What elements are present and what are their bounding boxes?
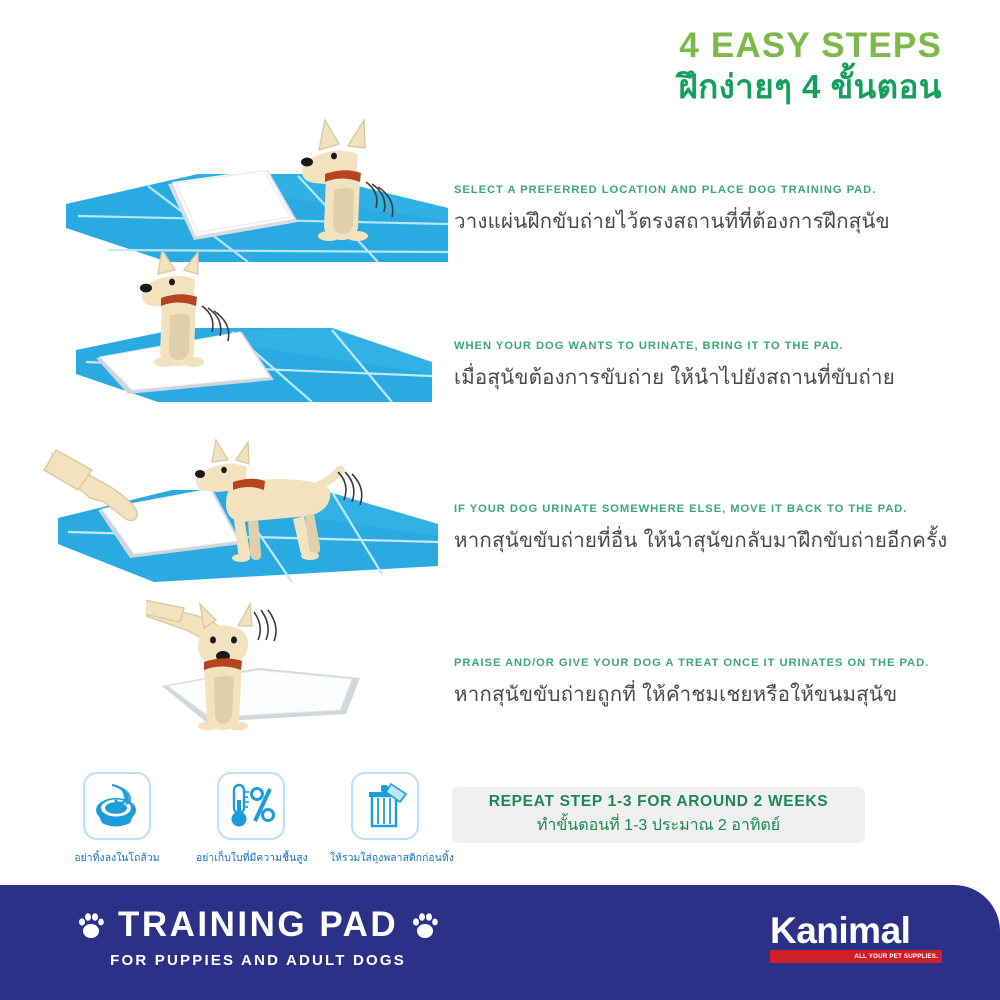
page-title-thai: ฝึกง่ายๆ 4 ขั้นตอน bbox=[678, 67, 942, 107]
product-brand-block: TRAINING PAD FOR PUPPIES AND ADULT DOGS bbox=[78, 907, 438, 969]
step-1-english: SELECT A PREFERRED LOCATION AND PLACE DO… bbox=[454, 184, 974, 196]
warning-item-humidity: อย่าเก็บใบที่มีความชื้นสูง bbox=[196, 772, 306, 866]
step-1-text: SELECT A PREFERRED LOCATION AND PLACE DO… bbox=[454, 184, 974, 238]
toilet-icon bbox=[83, 772, 151, 840]
step-4-thai: หากสุนัขขับถ่ายถูกที่ ให้คำชมเชยหรือให้ข… bbox=[454, 678, 974, 711]
thermometer-humidity-icon bbox=[217, 772, 285, 840]
product-name: TRAINING PAD bbox=[118, 907, 398, 942]
step-3-illustration bbox=[42, 432, 442, 589]
wagging-lines-4 bbox=[254, 610, 276, 641]
step-2-illustration bbox=[62, 252, 432, 407]
kanimal-wordmark: Kanimal bbox=[770, 913, 942, 948]
warning-label-humidity: อย่าเก็บใบที่มีความชื้นสูง bbox=[196, 849, 306, 866]
step-4-text: PRAISE AND/OR GIVE YOUR DOG A TREAT ONCE… bbox=[454, 657, 974, 711]
repeat-english: REPEAT STEP 1-3 FOR AROUND 2 WEEKS bbox=[489, 793, 829, 811]
warning-label-toilet: อย่าทิ้งลงในโถส้วม bbox=[62, 849, 172, 866]
infographic-page: 4 EASY STEPS ฝึกง่ายๆ 4 ขั้นตอน bbox=[0, 0, 1000, 1000]
step-1-thai: วางแผ่นฝึกขับถ่ายไว้ตรงสถานที่ที่ต้องการ… bbox=[454, 205, 974, 238]
warning-label-trash: ให้รวมใส่ถุงพลาสติกก่อนทิ้ง bbox=[330, 849, 440, 866]
page-title-english: 4 EASY STEPS bbox=[678, 26, 942, 65]
step-3-text: IF YOUR DOG URINATE SOMEWHERE ELSE, MOVE… bbox=[454, 503, 974, 557]
product-tagline: FOR PUPPIES AND ADULT DOGS bbox=[78, 952, 438, 969]
pointing-hand-3 bbox=[44, 450, 137, 521]
step-4-english: PRAISE AND/OR GIVE YOUR DOG A TREAT ONCE… bbox=[454, 657, 974, 669]
training-pad-4 bbox=[162, 668, 360, 722]
step-2-text: WHEN YOUR DOG WANTS TO URINATE, BRING IT… bbox=[454, 340, 974, 394]
kanimal-tagline: ALL YOUR PET SUPPLIES. bbox=[854, 953, 938, 960]
step-1-illustration bbox=[48, 112, 448, 267]
warning-item-trash: ให้รวมใส่ถุงพลาสติกก่อนทิ้ง bbox=[330, 772, 440, 866]
step-3-english: IF YOUR DOG URINATE SOMEWHERE ELSE, MOVE… bbox=[454, 503, 974, 515]
warning-item-toilet: อย่าทิ้งลงในโถส้วม bbox=[62, 772, 172, 866]
paw-print-left-icon bbox=[78, 910, 104, 940]
kanimal-red-bar: ALL YOUR PET SUPPLIES. bbox=[770, 950, 942, 963]
step-2-english: WHEN YOUR DOG WANTS TO URINATE, BRING IT… bbox=[454, 340, 974, 352]
warning-icon-group: อย่าทิ้งลงในโถส้วม bbox=[62, 772, 440, 866]
repeat-instruction-box: REPEAT STEP 1-3 FOR AROUND 2 WEEKS ทำขั้… bbox=[452, 787, 865, 843]
bottom-banner: TRAINING PAD FOR PUPPIES AND ADULT DOGS … bbox=[0, 885, 1000, 1000]
trash-bin-icon bbox=[351, 772, 419, 840]
paw-print-right-icon bbox=[412, 910, 438, 940]
kanimal-logo: Kanimal ALL YOUR PET SUPPLIES. bbox=[770, 913, 942, 963]
step-4-illustration bbox=[146, 586, 446, 741]
repeat-thai: ทำขั้นตอนที่ 1-3 ประมาณ 2 อาทิตย์ bbox=[537, 813, 780, 838]
page-header: 4 EASY STEPS ฝึกง่ายๆ 4 ขั้นตอน bbox=[678, 26, 942, 107]
step-2-thai: เมื่อสุนัขต้องการขับถ่าย ให้นำไปยังสถานท… bbox=[454, 361, 974, 394]
step-3-thai: หากสุนัขขับถ่ายที่อื่น ให้นำสุนัขกลับมาฝ… bbox=[454, 524, 974, 557]
